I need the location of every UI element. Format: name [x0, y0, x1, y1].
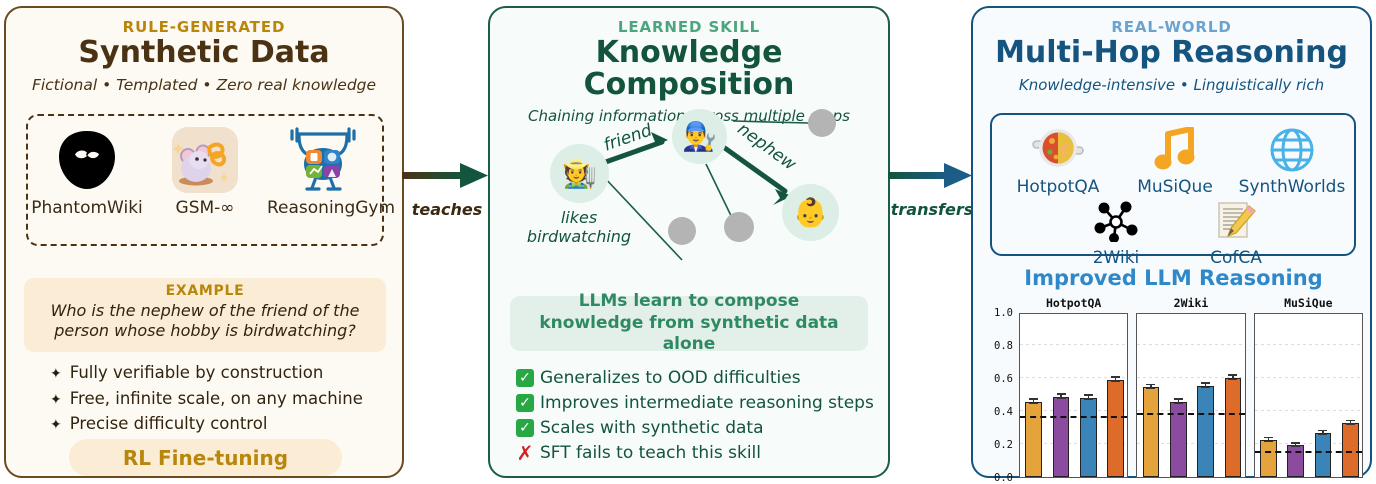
knowledge-graph: 🧑‍🌾 👨‍🔧 👶 likes birdwatching friend neph…	[490, 104, 888, 279]
panel-real-world: REAL-WORLD Multi-Hop Reasoning Knowledge…	[971, 6, 1372, 478]
arrow-right-icon	[888, 160, 974, 194]
panel-synthetic-subtitle: Fictional • Templated • Zero real knowle…	[6, 76, 402, 94]
graph-node-mechanic[interactable]: 👨‍🔧	[672, 109, 727, 164]
graph-node-unlabeled	[724, 212, 754, 242]
chart-error-cap	[1111, 376, 1120, 377]
mouse-infinity-icon	[149, 124, 261, 196]
transfers-arrow: transfers	[888, 160, 976, 240]
chart-error-cap	[1318, 434, 1327, 435]
hotpot-bowl-icon	[998, 121, 1118, 179]
outcome-list: ✓ Generalizes to OOD difficulties ✓ Impr…	[516, 366, 876, 466]
cross-mark-icon: ✗	[516, 444, 534, 462]
chart-error-cap	[1029, 403, 1038, 404]
dataset-reasoninggym[interactable]: ReasoningGym	[267, 124, 379, 218]
chart-facet: HotpotQA	[1019, 313, 1128, 478]
chart-bar	[1143, 387, 1160, 477]
benchmark-synthworlds[interactable]: SynthWorlds	[1232, 121, 1352, 197]
feature-item: ✦ Fully verifiable by construction	[50, 360, 380, 386]
feature-list: ✦ Fully verifiable by construction ✦ Fre…	[50, 360, 380, 437]
panel-composition-title: Knowledge Composition	[490, 37, 888, 100]
chart-error-cap	[1264, 437, 1273, 438]
chart-error-cap	[1084, 394, 1093, 395]
chart-gridline	[1255, 344, 1362, 345]
chart-error-cap	[1146, 388, 1155, 389]
panel-realworld-eyebrow: REAL-WORLD	[973, 18, 1370, 36]
check-mark-icon: ✓	[516, 369, 534, 387]
benchmark-cofca[interactable]: CofCA	[1176, 192, 1296, 268]
chart-bar	[1260, 440, 1277, 477]
y-axis-tick-label: 1.0	[985, 307, 1018, 319]
feature-item: ✦ Precise difficulty control	[50, 411, 380, 437]
baby-emoji-icon: 👶	[793, 196, 828, 229]
feature-item-label: Free, infinite scale, on any machine	[70, 386, 363, 412]
outcome-item-label: SFT fails to teach this skill	[540, 441, 761, 466]
chart-error-cap	[1291, 445, 1300, 446]
infographic-stage: RULE-GENERATED Synthetic Data Fictional …	[0, 0, 1376, 484]
teaches-arrow-label: teaches	[402, 200, 492, 219]
chart-error-cap	[1346, 420, 1355, 421]
chart-bar	[1315, 433, 1332, 477]
outcome-item-label: Scales with synthetic data	[540, 416, 764, 441]
arrow-right-icon	[402, 160, 490, 194]
graph-node-unlabeled	[668, 217, 696, 245]
chart-facet: 2Wiki	[1136, 313, 1245, 478]
chart-bar	[1225, 378, 1242, 477]
y-axis-tick-label: 0.0	[985, 472, 1018, 484]
outcome-item-label: Improves intermediate reasoning steps	[540, 391, 874, 416]
feature-item: ✦ Free, infinite scale, on any machine	[50, 386, 380, 412]
chart-facet-title: HotpotQA	[1020, 296, 1127, 310]
chart-error-cap	[1291, 442, 1300, 443]
chart-gridline	[1020, 344, 1127, 345]
music-note-icon	[1115, 121, 1235, 179]
graph-caption-line-2: birdwatching	[512, 227, 646, 246]
chart-error-cap	[1146, 384, 1155, 385]
chart-error-cap	[1174, 403, 1183, 404]
chart-bar	[1107, 380, 1124, 477]
chart-gridline	[1255, 377, 1362, 378]
chart-error-cap	[1228, 379, 1237, 380]
y-axis-tick-label: 0.2	[985, 439, 1018, 451]
dataset-gsm-infinity-label: GSM-∞	[149, 198, 261, 218]
chart-error-cap	[1201, 387, 1210, 388]
graph-nodes-icon	[1056, 192, 1176, 250]
benchmark-2wiki-label: 2Wiki	[1056, 248, 1176, 268]
graph-node-unlabeled	[808, 109, 836, 137]
dataset-gsm-infinity[interactable]: GSM-∞	[149, 124, 261, 218]
compose-callout: LLMs learn to compose knowledge from syn…	[510, 296, 868, 351]
chart-baseline	[1137, 413, 1244, 415]
bar-chart: 0.00.20.40.60.81.0HotpotQA2WikiMuSiQue	[985, 293, 1363, 478]
y-axis-tick-label: 0.6	[985, 373, 1018, 385]
chart-error-cap	[1111, 380, 1120, 381]
chart-heading: Improved LLM Reasoning	[973, 266, 1374, 290]
benchmark-sources-box: HotpotQA MuSiQue	[990, 113, 1356, 256]
check-mark-icon: ✓	[516, 394, 534, 412]
outcome-item: ✗ SFT fails to teach this skill	[516, 441, 876, 466]
chart-error-cap	[1201, 382, 1210, 383]
graph-node-farmer-caption: likes birdwatching	[512, 208, 646, 246]
benchmark-musique[interactable]: MuSiQue	[1115, 121, 1235, 197]
chart-error-cap	[1346, 423, 1355, 424]
chart-baseline	[1255, 451, 1362, 453]
chart-error-cap	[1228, 374, 1237, 375]
outcome-item-label: Generalizes to OOD difficulties	[540, 366, 801, 391]
outcome-item: ✓ Generalizes to OOD difficulties	[516, 366, 876, 391]
chart-bar	[1025, 402, 1042, 477]
benchmark-2wiki[interactable]: 2Wiki	[1056, 192, 1176, 268]
chart-baseline	[1020, 416, 1127, 418]
benchmark-cofca-label: CofCA	[1176, 248, 1296, 268]
memo-pencil-icon	[1176, 192, 1296, 250]
y-axis-tick-label: 0.8	[985, 340, 1018, 352]
chart-error-cap	[1029, 398, 1038, 399]
chart-bar	[1287, 445, 1304, 477]
dataset-phantomwiki-label: PhantomWiki	[31, 198, 143, 218]
panel-synthetic-data: RULE-GENERATED Synthetic Data Fictional …	[4, 6, 404, 478]
transfers-arrow-label: transfers	[888, 200, 976, 219]
panel-realworld-title: Multi-Hop Reasoning	[973, 37, 1370, 69]
dataset-sources-box: PhantomWiki	[26, 114, 384, 246]
theater-mask-icon	[31, 124, 143, 196]
panel-synthetic-eyebrow: RULE-GENERATED	[6, 18, 402, 36]
chart-bar	[1053, 397, 1070, 477]
chart-facet-title: 2Wiki	[1137, 296, 1244, 310]
feature-item-label: Fully verifiable by construction	[70, 360, 324, 386]
panel-composition-eyebrow: LEARNED SKILL	[490, 18, 888, 36]
chart-error-cap	[1264, 441, 1273, 442]
brain-dumbbell-icon	[267, 124, 379, 196]
diamond-bullet-icon: ✦	[50, 415, 62, 437]
teaches-arrow: teaches	[402, 160, 492, 240]
rl-finetuning-badge: RL Fine-tuning	[69, 439, 342, 476]
chart-bar	[1342, 423, 1359, 477]
panel-knowledge-composition: LEARNED SKILL Knowledge Composition Chai…	[488, 6, 890, 478]
chart-facet-title: MuSiQue	[1255, 296, 1362, 310]
dataset-phantomwiki[interactable]: PhantomWiki	[31, 124, 143, 218]
feature-item-label: Precise difficulty control	[70, 411, 268, 437]
panel-realworld-subtitle: Knowledge-intensive • Linguistically ric…	[973, 76, 1370, 94]
farmer-emoji-icon: 🧑‍🌾	[562, 157, 597, 190]
example-question: Who is the nephew of the friend of the p…	[24, 301, 386, 340]
chart-gridline	[1255, 410, 1362, 411]
mechanic-emoji-icon: 👨‍🔧	[682, 120, 717, 153]
diamond-bullet-icon: ✦	[50, 390, 62, 412]
chart-error-cap	[1057, 393, 1066, 394]
example-heading: EXAMPLE	[24, 283, 386, 299]
diamond-bullet-icon: ✦	[50, 364, 62, 386]
chart-error-cap	[1174, 398, 1183, 399]
chart-gridline	[1137, 344, 1244, 345]
outcome-item: ✓ Scales with synthetic data	[516, 416, 876, 441]
graph-caption-line-1: likes	[512, 208, 646, 227]
dataset-reasoninggym-label: ReasoningGym	[267, 198, 379, 218]
example-card: EXAMPLE Who is the nephew of the friend …	[24, 278, 386, 352]
outcome-item: ✓ Improves intermediate reasoning steps	[516, 391, 876, 416]
benchmark-hotpotqa[interactable]: HotpotQA	[998, 121, 1118, 197]
chart-facet: MuSiQue	[1254, 313, 1363, 478]
chart-error-cap	[1057, 397, 1066, 398]
graph-node-baby[interactable]: 👶	[782, 184, 839, 241]
chart-error-cap	[1318, 430, 1327, 431]
chart-error-cap	[1084, 398, 1093, 399]
check-mark-icon: ✓	[516, 419, 534, 437]
globe-icon	[1232, 121, 1352, 179]
chart-bar	[1197, 386, 1214, 477]
chart-bar	[1080, 398, 1097, 477]
y-axis-tick-label: 0.4	[985, 406, 1018, 418]
panel-synthetic-title: Synthetic Data	[6, 37, 402, 69]
graph-node-farmer[interactable]: 🧑‍🌾	[550, 144, 609, 203]
